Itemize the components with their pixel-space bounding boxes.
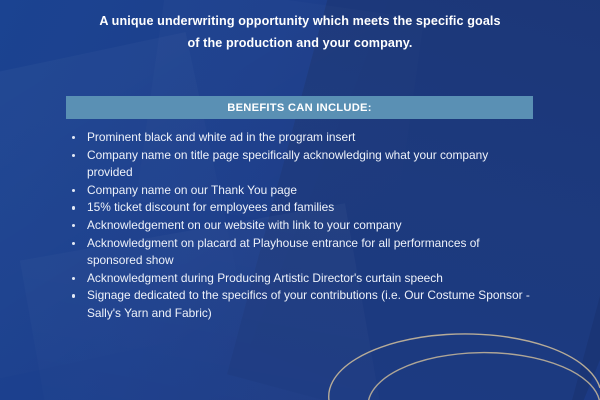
list-item: 15% ticket discount for employees and fa… <box>66 199 536 217</box>
list-item-label: Acknowledgment on placard at Playhouse e… <box>87 236 480 268</box>
list-item-label: Prominent black and white ad in the prog… <box>87 130 355 144</box>
list-item: Acknowledgement on our website with link… <box>66 217 536 235</box>
list-item-label: Acknowledgment during Producing Artistic… <box>87 271 443 285</box>
list-item: Company name on our Thank You page <box>66 182 536 200</box>
bullet-icon <box>72 206 75 209</box>
bullet-icon <box>72 242 75 245</box>
list-item: Prominent black and white ad in the prog… <box>66 129 536 147</box>
bullet-icon <box>72 224 75 227</box>
benefits-header-bar: BENEFITS CAN INCLUDE: <box>66 96 533 119</box>
bullet-icon <box>72 136 75 139</box>
list-item-label: Company name on our Thank You page <box>87 183 297 197</box>
list-item: Acknowledgment on placard at Playhouse e… <box>66 235 536 270</box>
list-item: Signage dedicated to the specifics of yo… <box>66 287 536 322</box>
bullet-icon <box>72 294 75 297</box>
slide-canvas: A unique underwriting opportunity which … <box>0 0 600 400</box>
benefits-list: Prominent black and white ad in the prog… <box>66 129 536 323</box>
list-item-label: 15% ticket discount for employees and fa… <box>87 200 334 214</box>
page-title: A unique underwriting opportunity which … <box>95 10 505 54</box>
list-item: Company name on title page specifically … <box>66 147 536 182</box>
list-item-label: Acknowledgement on our website with link… <box>87 218 402 232</box>
bullet-icon <box>72 189 75 192</box>
benefits-header-label: BENEFITS CAN INCLUDE: <box>227 102 371 114</box>
list-item-label: Signage dedicated to the specifics of yo… <box>87 288 530 320</box>
bullet-icon <box>72 277 75 280</box>
list-item: Acknowledgment during Producing Artistic… <box>66 270 536 288</box>
list-item-label: Company name on title page specifically … <box>87 148 488 180</box>
bullet-icon <box>72 154 75 157</box>
